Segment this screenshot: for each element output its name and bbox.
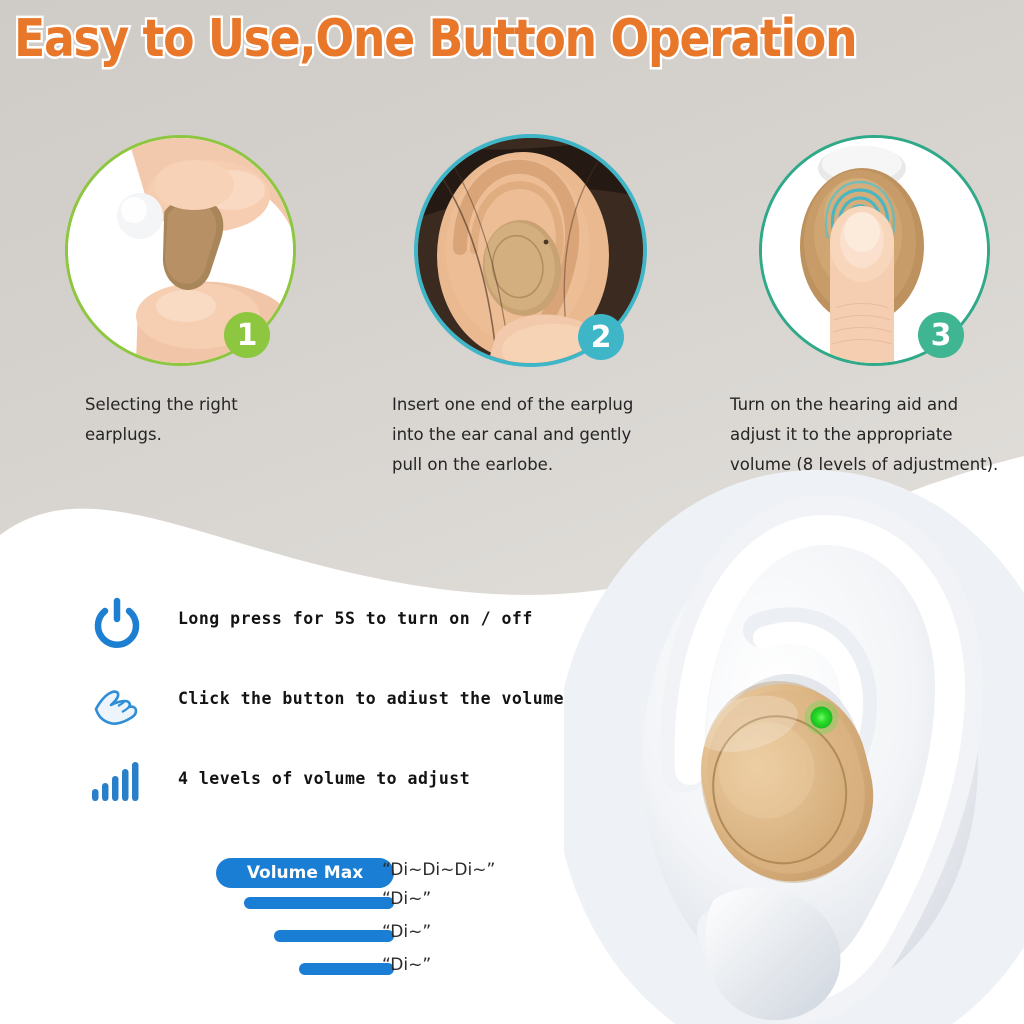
- infographic-page: Easy to Use,One Button Operation: [0, 0, 1024, 1024]
- volume-row-2: “Di~”: [170, 924, 590, 957]
- tap-hand-icon: [88, 675, 146, 733]
- feature-click: Click the button to adiust the volume: [88, 675, 608, 755]
- volume-bar-3[interactable]: [244, 897, 394, 909]
- volume-bar-2[interactable]: [274, 930, 394, 942]
- volume-beep-2: “Di~”: [382, 922, 431, 942]
- step-1-caption: Selecting the right earplugs.: [85, 390, 385, 450]
- volume-beep-1: “Di~”: [382, 955, 431, 975]
- power-icon: [88, 595, 146, 653]
- volume-bar-1[interactable]: [299, 963, 394, 975]
- volume-levels: Volume Max “Di~Di~Di~” “Di~” “Di~” “Di~”: [170, 858, 590, 990]
- volume-row-1: “Di~”: [170, 957, 590, 990]
- step-3-badge: 3: [918, 312, 964, 358]
- step-2-caption: Insert one end of the earplug into the e…: [392, 390, 692, 480]
- step-1-badge: 1: [224, 312, 270, 358]
- step-3-caption: Turn on the hearing aid and adjust it to…: [730, 390, 1024, 480]
- volume-row-max: Volume Max “Di~Di~Di~”: [170, 858, 590, 891]
- step-2-badge: 2: [578, 314, 624, 360]
- steps-row: 1: [0, 130, 1024, 380]
- ear-with-hearing-aid-image: [564, 470, 1024, 1024]
- feature-levels: 4 levels of volume to adjust: [88, 755, 608, 835]
- volume-max-beep: “Di~Di~Di~”: [382, 860, 495, 880]
- step-3: 3: [752, 130, 1002, 380]
- volume-max-pill[interactable]: Volume Max: [216, 858, 394, 888]
- feature-power: Long press for 5S to turn on / off: [88, 595, 608, 675]
- feature-click-label: Click the button to adiust the volume: [178, 689, 564, 708]
- signal-bars-icon: [88, 755, 146, 813]
- feature-power-label: Long press for 5S to turn on / off: [178, 609, 533, 628]
- volume-beep-3: “Di~”: [382, 889, 431, 909]
- step-2: 2: [408, 130, 658, 380]
- step-1: 1: [58, 130, 308, 380]
- feature-list: Long press for 5S to turn on / off Click…: [88, 595, 608, 835]
- page-title: Easy to Use,One Button Operation: [14, 10, 856, 68]
- feature-levels-label: 4 levels of volume to adjust: [178, 769, 470, 788]
- volume-row-3: “Di~”: [170, 891, 590, 924]
